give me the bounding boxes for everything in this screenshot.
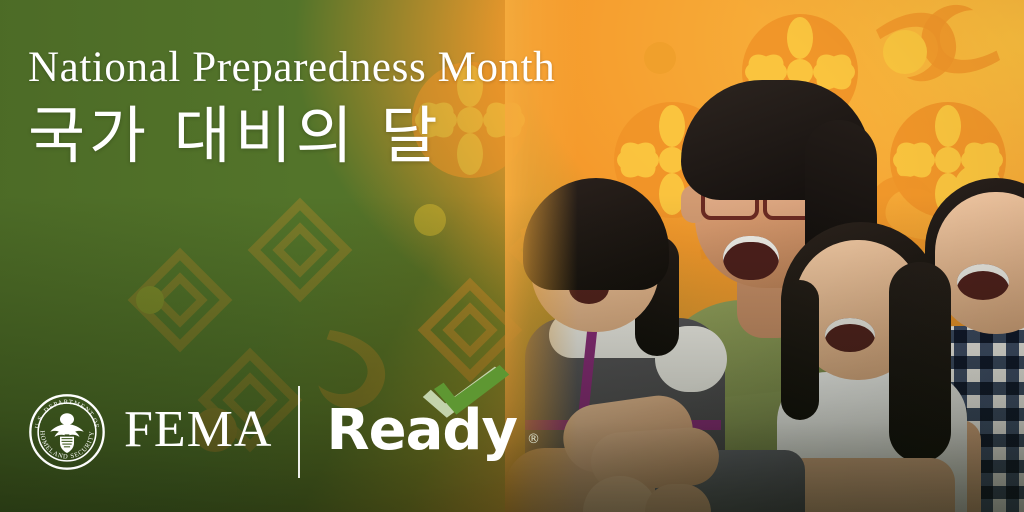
preparedness-banner: National Preparedness Month 국가 대비의 달 U.S… [0, 0, 1024, 512]
logo-lockup[interactable]: U.S. DEPARTMENT OF HOMELAND SECURITY FEM… [28, 384, 540, 480]
dhs-seal-icon[interactable]: U.S. DEPARTMENT OF HOMELAND SECURITY [28, 393, 106, 471]
ready-logo[interactable]: Ready ® [326, 403, 539, 461]
headline-english: National Preparedness Month [28, 46, 668, 89]
logo-divider [298, 386, 300, 478]
ready-checkmark-icon [418, 365, 514, 421]
fema-wordmark[interactable]: FEMA [124, 404, 272, 460]
registered-trademark-icon: ® [527, 432, 540, 461]
headline-block: National Preparedness Month 국가 대비의 달 [28, 46, 668, 168]
headline-korean: 국가 대비의 달 [28, 103, 668, 168]
